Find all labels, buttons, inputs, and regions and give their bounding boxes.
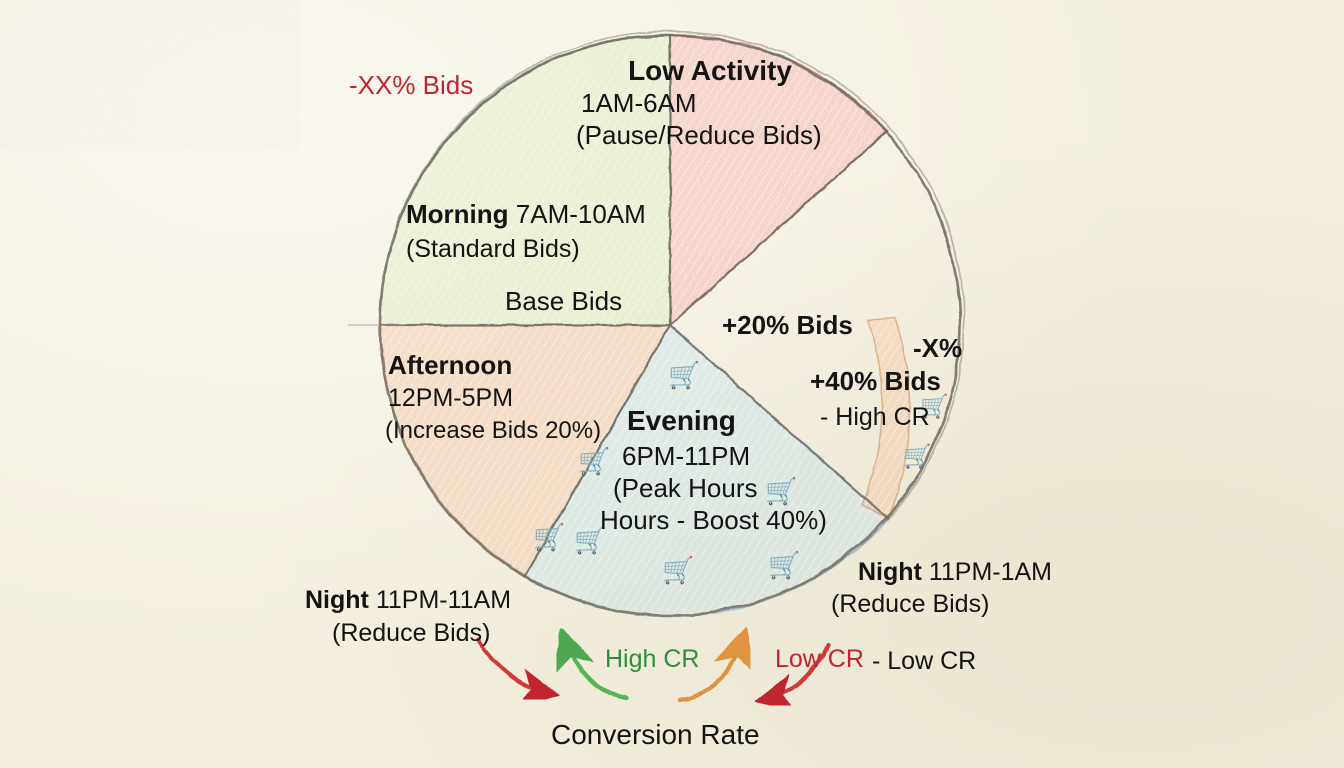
shopping-cart-icon: 🛒 (903, 445, 932, 468)
slice-label-night-left-hours: 11PM-11AM (376, 586, 511, 614)
shopping-cart-icon: 🛒 (668, 362, 700, 388)
slice-label-morning-hours: 7AM-10AM (516, 199, 646, 229)
high-cr-label: High CR (605, 644, 699, 674)
slice-label-afternoon-hours: 12PM-5PM (388, 383, 513, 413)
shopping-cart-icon: 🛒 (533, 524, 565, 550)
night-reduce-label: -X% (913, 333, 962, 364)
slice-label-evening-hours: 6PM-11PM (622, 441, 750, 472)
slice-label-evening-title: Evening (627, 404, 736, 438)
slice-label-night-right-hours: 11PM-1AM (929, 558, 1052, 586)
boost-40-label: +40% Bids (810, 366, 941, 397)
slice-label-low-activity-hours: 1AM-6AM (581, 88, 697, 119)
slice-label-evening-note-2: Hours - Boost 40%) (600, 505, 827, 536)
slice-label-night-left-note: (Reduce Bids) (332, 618, 490, 648)
slice-label-night-right-note: (Reduce Bids) (831, 589, 989, 619)
boost-40-cr-label: - High CR (820, 402, 930, 432)
increase-20-label: +20% Bids (722, 310, 853, 341)
shopping-cart-icon: 🛒 (768, 552, 800, 578)
slice-label-morning-title: Morning (406, 199, 509, 229)
shopping-cart-icon: 🛒 (765, 478, 797, 504)
slice-label-low-activity-note: (Pause/Reduce Bids) (576, 120, 822, 151)
base-bids-label: Base Bids (505, 286, 622, 317)
slice-label-night-right-title: Night (858, 558, 922, 586)
curved-arrow-red-left-icon (478, 640, 552, 694)
slice-label-night-left-title: Night (305, 586, 369, 614)
slice-label-afternoon-title: Afternoon (388, 350, 512, 381)
slice-label-low-activity-title: Low Activity (580, 54, 840, 88)
reduce-bids-callout: -XX% Bids (349, 70, 473, 101)
slice-label-afternoon-note: (Increase Bids 20%) (385, 417, 601, 446)
shopping-cart-icon: 🛒 (662, 557, 694, 583)
slice-label-morning-note: (Standard Bids) (406, 234, 580, 264)
low-cr-label: Low CR (775, 644, 864, 674)
shopping-cart-icon: 🛒 (578, 448, 610, 474)
slice-label-night-right-cr: - Low CR (872, 646, 976, 676)
conversion-rate-label: Conversion Rate (551, 718, 760, 752)
slice-label-evening-note-1: (Peak Hours (613, 473, 758, 504)
